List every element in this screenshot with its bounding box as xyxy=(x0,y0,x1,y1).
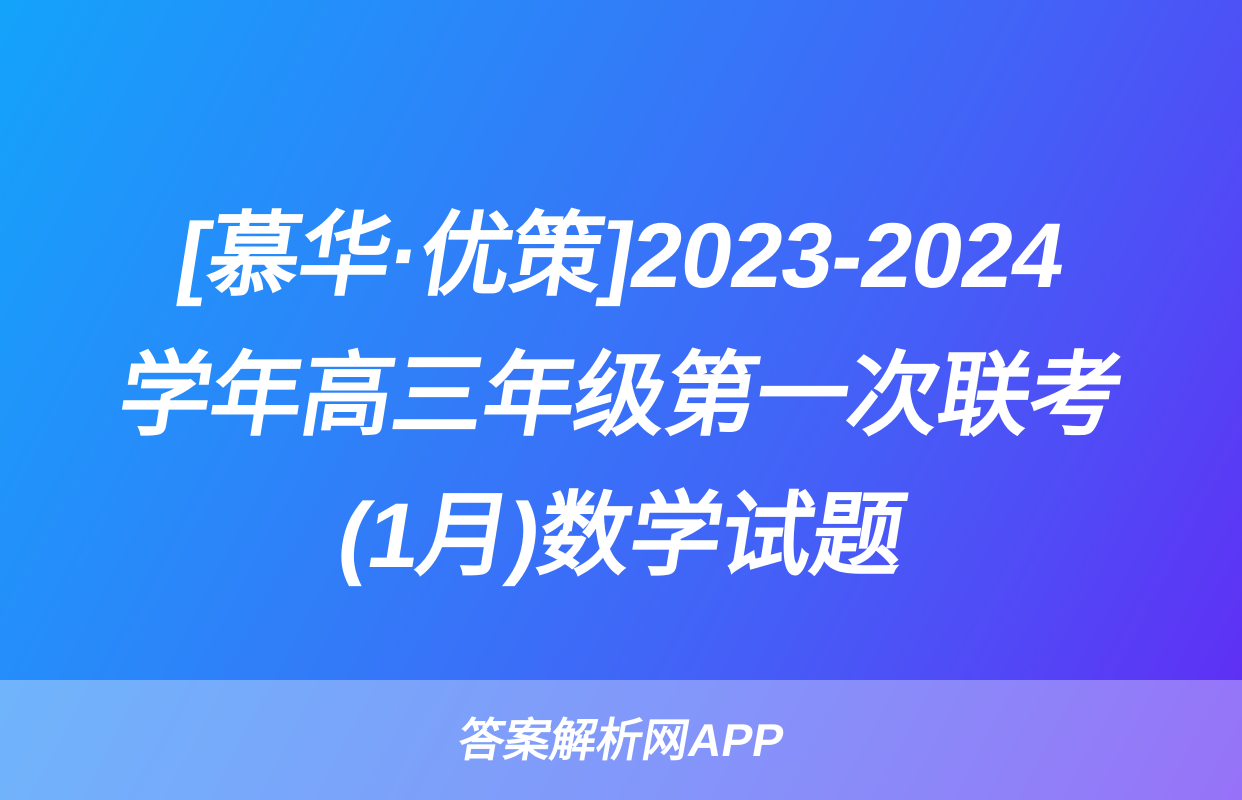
title-line-3: (1月)数学试题 xyxy=(328,466,915,606)
title-line-1: [慕华·优策]2023-2024 xyxy=(168,186,1074,326)
footer-brand-band: 答案解析网APP xyxy=(0,680,1242,800)
footer-brand-label: 答案解析网APP xyxy=(455,717,788,763)
page-title: [慕华·优策]2023-2024 学年高三年级第一次联考 (1月)数学试题 xyxy=(0,186,1242,606)
title-line-2: 学年高三年级第一次联考 xyxy=(109,326,1132,466)
exam-title-card: [慕华·优策]2023-2024 学年高三年级第一次联考 (1月)数学试题 答案… xyxy=(0,0,1242,800)
